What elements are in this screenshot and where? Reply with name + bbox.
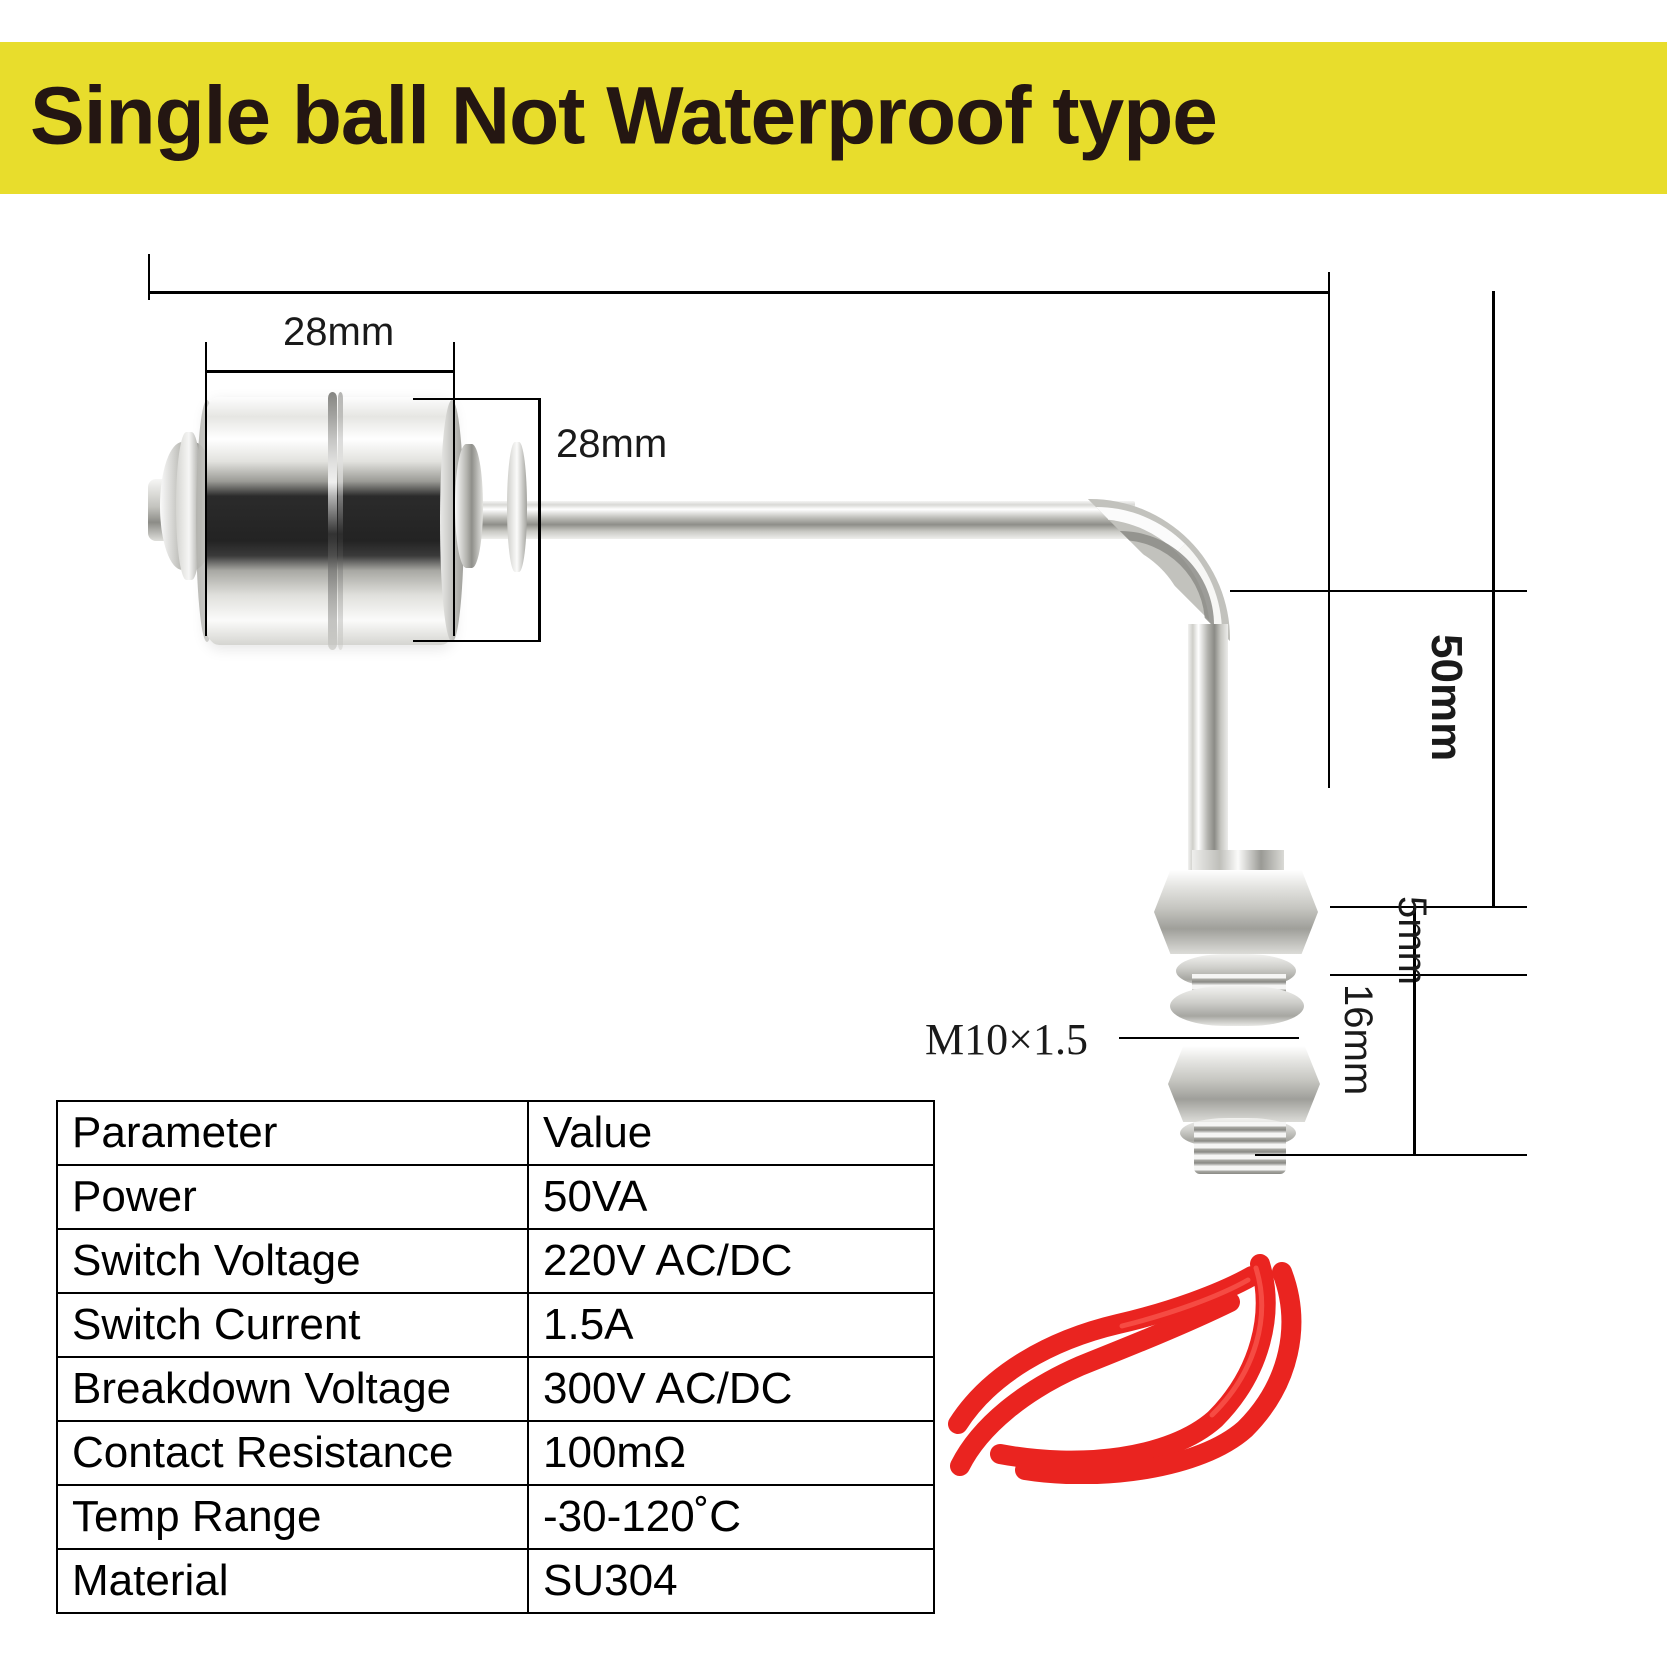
extension-line-float-right bbox=[453, 342, 455, 636]
thread-stem bbox=[1192, 850, 1284, 886]
washer-middle bbox=[1170, 986, 1304, 1026]
stem-elbow-shadow bbox=[1120, 531, 1214, 627]
page-title: Single ball Not Waterproof type bbox=[30, 75, 1217, 157]
float-end-left bbox=[196, 400, 218, 642]
thread-section-lower bbox=[1194, 1122, 1286, 1174]
table-row: Breakdown Voltage 300V AC/DC bbox=[57, 1357, 934, 1421]
float-ball bbox=[205, 397, 455, 645]
table-cell-parameter: Breakdown Voltage bbox=[57, 1357, 528, 1421]
table-cell-value: 50VA bbox=[528, 1165, 934, 1229]
table-cell-parameter: Switch Voltage bbox=[57, 1229, 528, 1293]
hex-nut-upper bbox=[1154, 870, 1318, 954]
retaining-clip-left bbox=[176, 432, 202, 580]
stem-rod-horizontal bbox=[455, 501, 1135, 539]
callout-leader-thread-spec bbox=[1119, 1037, 1299, 1039]
float-ridge-inner bbox=[338, 392, 343, 650]
table-row: Power 50VA bbox=[57, 1165, 934, 1229]
dimension-line-thread-length bbox=[1413, 974, 1416, 1156]
product-spec-page: Single ball Not Waterproof type bbox=[0, 0, 1667, 1667]
table-cell-value: -30-120˚C bbox=[528, 1485, 934, 1549]
dimension-label-float-length: 28mm bbox=[283, 312, 394, 352]
dimension-label-nut-height: 5mm bbox=[1392, 896, 1432, 985]
retaining-clip-right bbox=[507, 442, 527, 572]
stem-end-cap bbox=[148, 479, 204, 541]
table-cell-value: 100mΩ bbox=[528, 1421, 934, 1485]
table-cell-value: 1.5A bbox=[528, 1293, 934, 1357]
table-header-parameter: Parameter bbox=[57, 1101, 528, 1165]
stem-rod-vertical bbox=[1188, 624, 1228, 872]
table-row: Parameter Value bbox=[57, 1101, 934, 1165]
washer-lower bbox=[1180, 1118, 1296, 1148]
dimension-line-overall bbox=[148, 291, 1330, 294]
retaining-collar-right bbox=[455, 444, 483, 568]
table-row: Temp Range -30-120˚C bbox=[57, 1485, 934, 1549]
table-row: Switch Voltage 220V AC/DC bbox=[57, 1229, 934, 1293]
extension-line-drop-top bbox=[1230, 590, 1527, 592]
table-cell-value: 220V AC/DC bbox=[528, 1229, 934, 1293]
table-row: Switch Current 1.5A bbox=[57, 1293, 934, 1357]
dimension-line-stem-drop bbox=[1492, 291, 1495, 908]
extension-line-overall-right bbox=[1328, 272, 1330, 788]
spec-table-body: Parameter Value Power 50VA Switch Voltag… bbox=[57, 1101, 934, 1613]
dimension-label-thread-length: 16mm bbox=[1338, 984, 1378, 1095]
extension-line-diam-bottom bbox=[413, 640, 541, 642]
table-header-value: Value bbox=[528, 1101, 934, 1165]
washer-upper bbox=[1176, 954, 1296, 988]
table-cell-value: 300V AC/DC bbox=[528, 1357, 934, 1421]
stem-elbow bbox=[1088, 499, 1230, 641]
retaining-collar-left bbox=[160, 442, 216, 570]
table-cell-parameter: Temp Range bbox=[57, 1485, 528, 1549]
table-cell-parameter: Material bbox=[57, 1549, 528, 1613]
red-lead-wires bbox=[930, 1254, 1400, 1484]
callout-label-thread-spec: M10×1.5 bbox=[925, 1018, 1088, 1062]
table-cell-parameter: Switch Current bbox=[57, 1293, 528, 1357]
dimension-label-float-diameter: 28mm bbox=[556, 424, 667, 464]
specification-table: Parameter Value Power 50VA Switch Voltag… bbox=[56, 1100, 935, 1614]
dimension-line-float-diam bbox=[538, 398, 541, 642]
dimension-label-stem-drop: 50mm bbox=[1424, 634, 1468, 761]
float-end-right bbox=[440, 400, 464, 642]
thread-section-upper bbox=[1192, 974, 1286, 998]
extension-line-thread-bottom bbox=[1255, 1154, 1527, 1156]
title-banner: Single ball Not Waterproof type bbox=[0, 42, 1667, 194]
dimension-line-float-length bbox=[205, 370, 455, 373]
table-row: Material SU304 bbox=[57, 1549, 934, 1613]
extension-line-float-left bbox=[205, 342, 207, 636]
table-cell-parameter: Power bbox=[57, 1165, 528, 1229]
extension-line-diam-top bbox=[413, 398, 541, 400]
hex-nut-lower bbox=[1168, 1046, 1320, 1122]
stem-elbow-highlight bbox=[1096, 507, 1222, 633]
table-row: Contact Resistance 100mΩ bbox=[57, 1421, 934, 1485]
table-cell-value: SU304 bbox=[528, 1549, 934, 1613]
table-cell-parameter: Contact Resistance bbox=[57, 1421, 528, 1485]
float-ridge bbox=[328, 392, 337, 650]
